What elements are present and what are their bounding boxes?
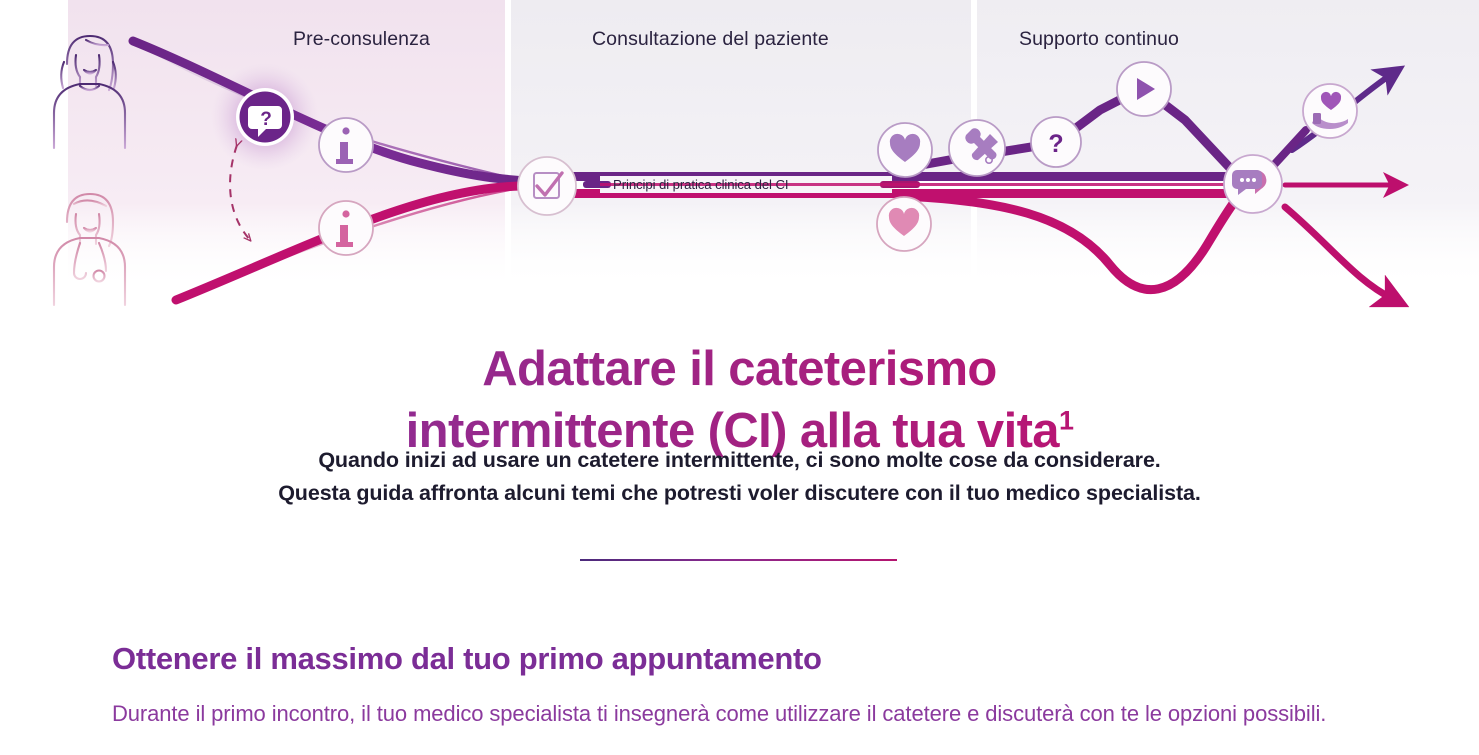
page-title-line1: Adattare il cateterismo: [482, 342, 997, 396]
checklist-node: [518, 157, 576, 215]
section-heading: Ottenere il massimo dal tuo primo appunt…: [112, 641, 822, 677]
page-subtitle: Quando inizi ad usare un catetere interm…: [0, 444, 1479, 509]
chat-node: [1224, 155, 1282, 213]
clinical-principles-label: Principi di pratica clinica del CI: [613, 177, 788, 192]
page-subtitle-line1: Quando inizi ad usare un catetere interm…: [318, 448, 1160, 472]
patient-journey-diagram: ?: [0, 0, 1479, 310]
question-node: ?: [236, 88, 294, 146]
hand-heart-node: [1303, 84, 1357, 138]
phase-label-consultazione: Consultazione del paziente: [592, 28, 829, 51]
tools-node: [949, 120, 1005, 176]
page-root: ?: [0, 0, 1479, 755]
svg-text:?: ?: [260, 109, 272, 130]
play-node: [1117, 62, 1171, 116]
phase-label-supporto: Supporto continuo: [1019, 28, 1179, 51]
heart-node-purple: [878, 123, 932, 177]
question-node-small: ?: [1031, 117, 1081, 167]
svg-text:?: ?: [1048, 130, 1063, 158]
page-subtitle-line2: Questa guida affronta alcuni temi che po…: [278, 481, 1201, 505]
phase-label-pre-consulenza: Pre-consulenza: [293, 28, 430, 51]
heart-node-pink: [877, 197, 931, 251]
info-node-pink: [319, 201, 373, 255]
section-divider: [580, 559, 897, 561]
page-title-superscript: 1: [1059, 405, 1073, 435]
info-node-purple: [319, 118, 373, 172]
section-body-text: Durante il primo incontro, il tuo medico…: [112, 698, 1342, 730]
